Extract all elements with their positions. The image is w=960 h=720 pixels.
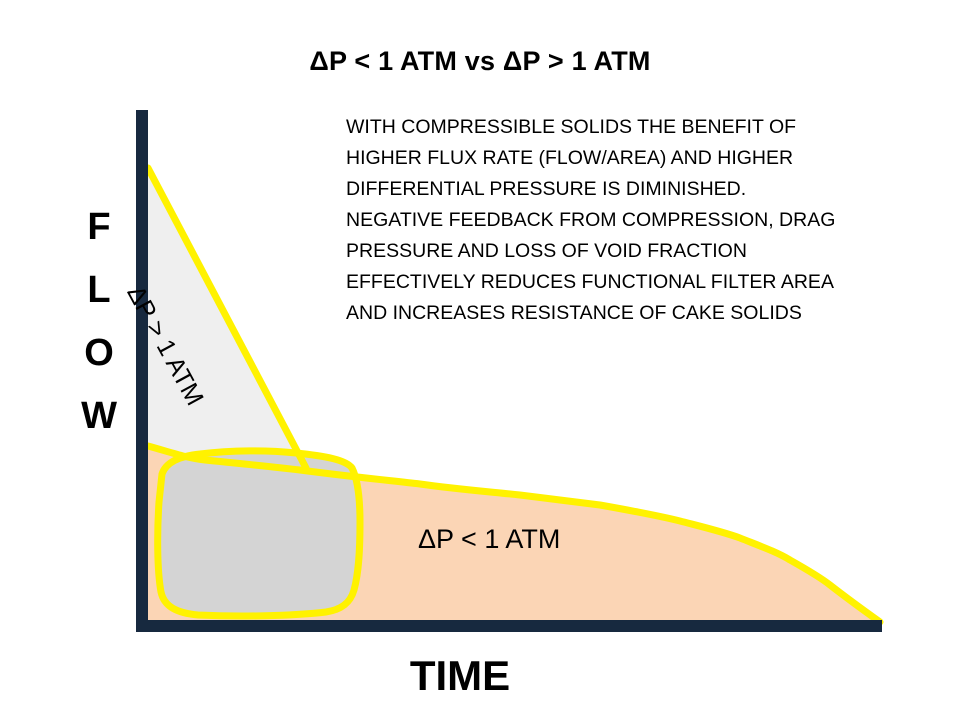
annotation-line: NEGATIVE FEEDBACK FROM COMPRESSION, DRAG bbox=[346, 205, 906, 236]
series-label-low-dp: ΔP < 1 ATM bbox=[418, 524, 560, 555]
y-axis-title-letter: L bbox=[70, 259, 128, 322]
annotation-line: EFFECTIVELY REDUCES FUNCTIONAL FILTER AR… bbox=[346, 267, 906, 298]
chart-plot-area bbox=[0, 0, 960, 720]
x-axis-title: TIME bbox=[330, 652, 590, 700]
annotation-text-block: WITH COMPRESSIBLE SOLIDS THE BENEFIT OF … bbox=[346, 112, 906, 329]
y-axis-title-letter: F bbox=[70, 196, 128, 259]
annotation-line: WITH COMPRESSIBLE SOLIDS THE BENEFIT OF bbox=[346, 112, 906, 143]
y-axis-line bbox=[136, 110, 148, 625]
slide-canvas: ΔP < 1 ATM vs ΔP > 1 ATM ΔP > 1 ATM ΔP <… bbox=[0, 0, 960, 720]
annotation-line: DIFFERENTIAL PRESSURE IS DIMINISHED. bbox=[346, 174, 906, 205]
y-axis-title-letter: W bbox=[70, 385, 128, 448]
annotation-line: AND INCREASES RESISTANCE OF CAKE SOLIDS bbox=[346, 298, 906, 329]
y-axis-title: F L O W bbox=[70, 196, 128, 448]
y-axis-title-letter: O bbox=[70, 322, 128, 385]
annotation-line: HIGHER FLUX RATE (FLOW/AREA) AND HIGHER bbox=[346, 143, 906, 174]
x-axis-line bbox=[136, 620, 882, 632]
annotation-line: PRESSURE AND LOSS OF VOID FRACTION bbox=[346, 236, 906, 267]
